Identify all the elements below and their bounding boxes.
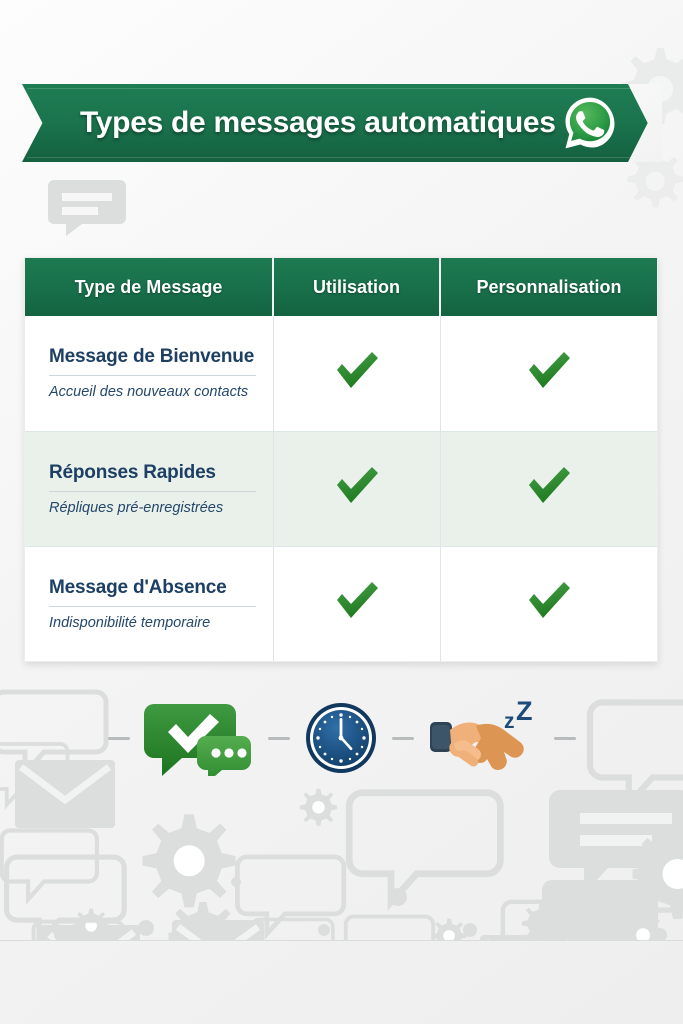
table-header-row: Type de Message Utilisation Personnalisa…	[25, 258, 657, 316]
check-icon	[331, 348, 383, 394]
row-title: Réponses Rapides	[49, 462, 273, 484]
separator-dash	[268, 737, 290, 740]
separator-dash	[108, 737, 130, 740]
row-divider	[49, 491, 256, 492]
chat-check-icon	[144, 700, 254, 776]
cell-utilisation	[273, 431, 440, 546]
handshake-sleep-icon: z Z	[428, 700, 540, 776]
table-row: Message d'Absence Indisponibilité tempor…	[25, 546, 657, 661]
table-header: Type de Message Utilisation Personnalisa…	[25, 258, 657, 316]
title-banner: Types de messages automatiques	[22, 84, 662, 162]
check-icon	[523, 348, 575, 394]
separator-dash	[392, 737, 414, 740]
row-title: Message de Bienvenue	[49, 346, 273, 368]
row-subtitle: Accueil des nouveaux contacts	[49, 384, 273, 400]
svg-text:Z: Z	[516, 700, 533, 726]
check-icon	[523, 578, 575, 624]
column-header-personnalisation: Personnalisation	[440, 258, 657, 316]
background-divider	[0, 940, 683, 941]
column-header-utilisation: Utilisation	[273, 258, 440, 316]
row-divider	[49, 375, 256, 376]
table-row: Réponses Rapides Répliques pré-enregistr…	[25, 431, 657, 546]
cell-message-type: Réponses Rapides Répliques pré-enregistr…	[25, 431, 273, 546]
comparison-table-card: Type de Message Utilisation Personnalisa…	[24, 257, 658, 662]
column-header-type: Type de Message	[25, 258, 273, 316]
cell-personnalisation	[440, 431, 657, 546]
check-icon	[331, 578, 383, 624]
row-subtitle: Répliques pré-enregistrées	[49, 500, 273, 516]
svg-text:z: z	[504, 710, 515, 733]
cell-personnalisation	[440, 546, 657, 661]
table-body: Message de Bienvenue Accueil des nouveau…	[25, 316, 657, 661]
table-row: Message de Bienvenue Accueil des nouveau…	[25, 316, 657, 431]
speech-bubble-icon	[48, 180, 126, 236]
whatsapp-icon	[562, 95, 618, 151]
cell-utilisation	[273, 546, 440, 661]
clock-icon	[304, 701, 378, 775]
check-icon	[523, 463, 575, 509]
comparison-table: Type de Message Utilisation Personnalisa…	[25, 258, 657, 661]
row-subtitle: Indisponibilité temporaire	[49, 615, 273, 631]
row-title: Message d'Absence	[49, 577, 273, 599]
cell-utilisation	[273, 316, 440, 431]
cell-personnalisation	[440, 316, 657, 431]
page-title: Types de messages automatiques	[80, 106, 556, 140]
cell-message-type: Message de Bienvenue Accueil des nouveau…	[25, 316, 273, 431]
check-icon	[331, 463, 383, 509]
separator-dash	[554, 737, 576, 740]
footer-icon-strip: z Z	[0, 700, 683, 776]
row-divider	[49, 606, 256, 607]
cell-message-type: Message d'Absence Indisponibilité tempor…	[25, 546, 273, 661]
